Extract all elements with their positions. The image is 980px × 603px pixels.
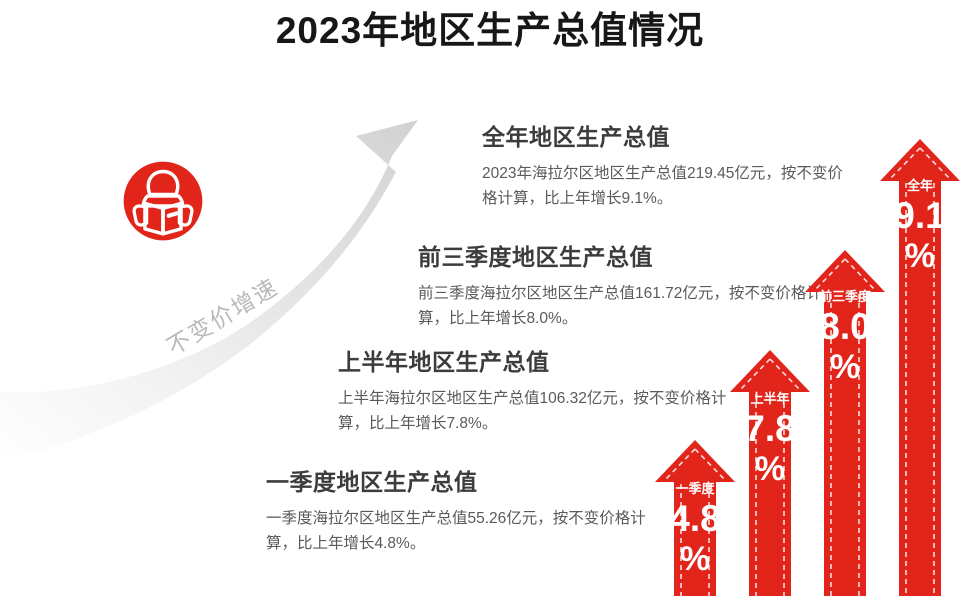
stat-body: 一季度海拉尔区地区生产总值55.26亿元，按不变价格计算，比上年增长4.8%。: [266, 506, 666, 556]
arrow-period-label: 全年: [878, 175, 962, 194]
stat-body: 2023年海拉尔区地区生产总值219.45亿元，按不变价格计算，比上年增长9.1…: [482, 161, 857, 211]
stat-body: 前三季度海拉尔区地区生产总值161.72亿元，按不变价格计算，比上年增长8.0%…: [418, 281, 838, 331]
arrow-percent-symbol: %: [728, 452, 812, 486]
arrow-period-label: 一季度: [653, 478, 737, 497]
arrow-value: 9.1: [878, 197, 962, 234]
stat-heading: 上半年地区生产总值: [338, 343, 733, 377]
infographic-canvas: 2023年地区生产总值情况 不变价增速: [0, 0, 980, 603]
stat-block-full-year: 全年地区生产总值 2023年海拉尔区地区生产总值219.45亿元，按不变价格计算…: [482, 118, 857, 211]
stat-heading: 一季度地区生产总值: [266, 463, 666, 497]
stat-block-first-half: 上半年地区生产总值 上半年海拉尔区地区生产总值106.32亿元，按不变价格计算，…: [338, 343, 733, 436]
person-reading-book-icon: [122, 160, 204, 242]
stat-body: 上半年海拉尔区地区生产总值106.32亿元，按不变价格计算，比上年增长7.8%。: [338, 386, 733, 436]
stat-heading: 全年地区生产总值: [482, 118, 857, 152]
stat-heading: 前三季度地区生产总值: [418, 238, 838, 272]
arrow-period-label: 前三季度: [803, 286, 887, 305]
arrow-period-label: 上半年: [728, 388, 812, 407]
bar-arrow-full-year: 全年 9.1 %: [878, 137, 962, 596]
page-title: 2023年地区生产总值情况: [0, 6, 980, 56]
arrow-percent-symbol: %: [803, 350, 887, 384]
arrow-value: 7.8: [728, 410, 812, 447]
stat-block-first-quarter: 一季度地区生产总值 一季度海拉尔区地区生产总值55.26亿元，按不变价格计算，比…: [266, 463, 666, 556]
arrow-percent-symbol: %: [878, 239, 962, 273]
arrow-value: 4.8: [653, 500, 737, 537]
arrow-value: 8.0: [803, 308, 887, 345]
bar-arrow-first-half: 上半年 7.8 %: [728, 348, 812, 596]
stat-block-first-three-quarters: 前三季度地区生产总值 前三季度海拉尔区地区生产总值161.72亿元，按不变价格计…: [418, 238, 838, 331]
bar-arrow-first-three-quarters: 前三季度 8.0 %: [803, 248, 887, 596]
bar-arrow-first-quarter: 一季度 4.8 %: [653, 438, 737, 596]
arrow-percent-symbol: %: [653, 542, 737, 576]
